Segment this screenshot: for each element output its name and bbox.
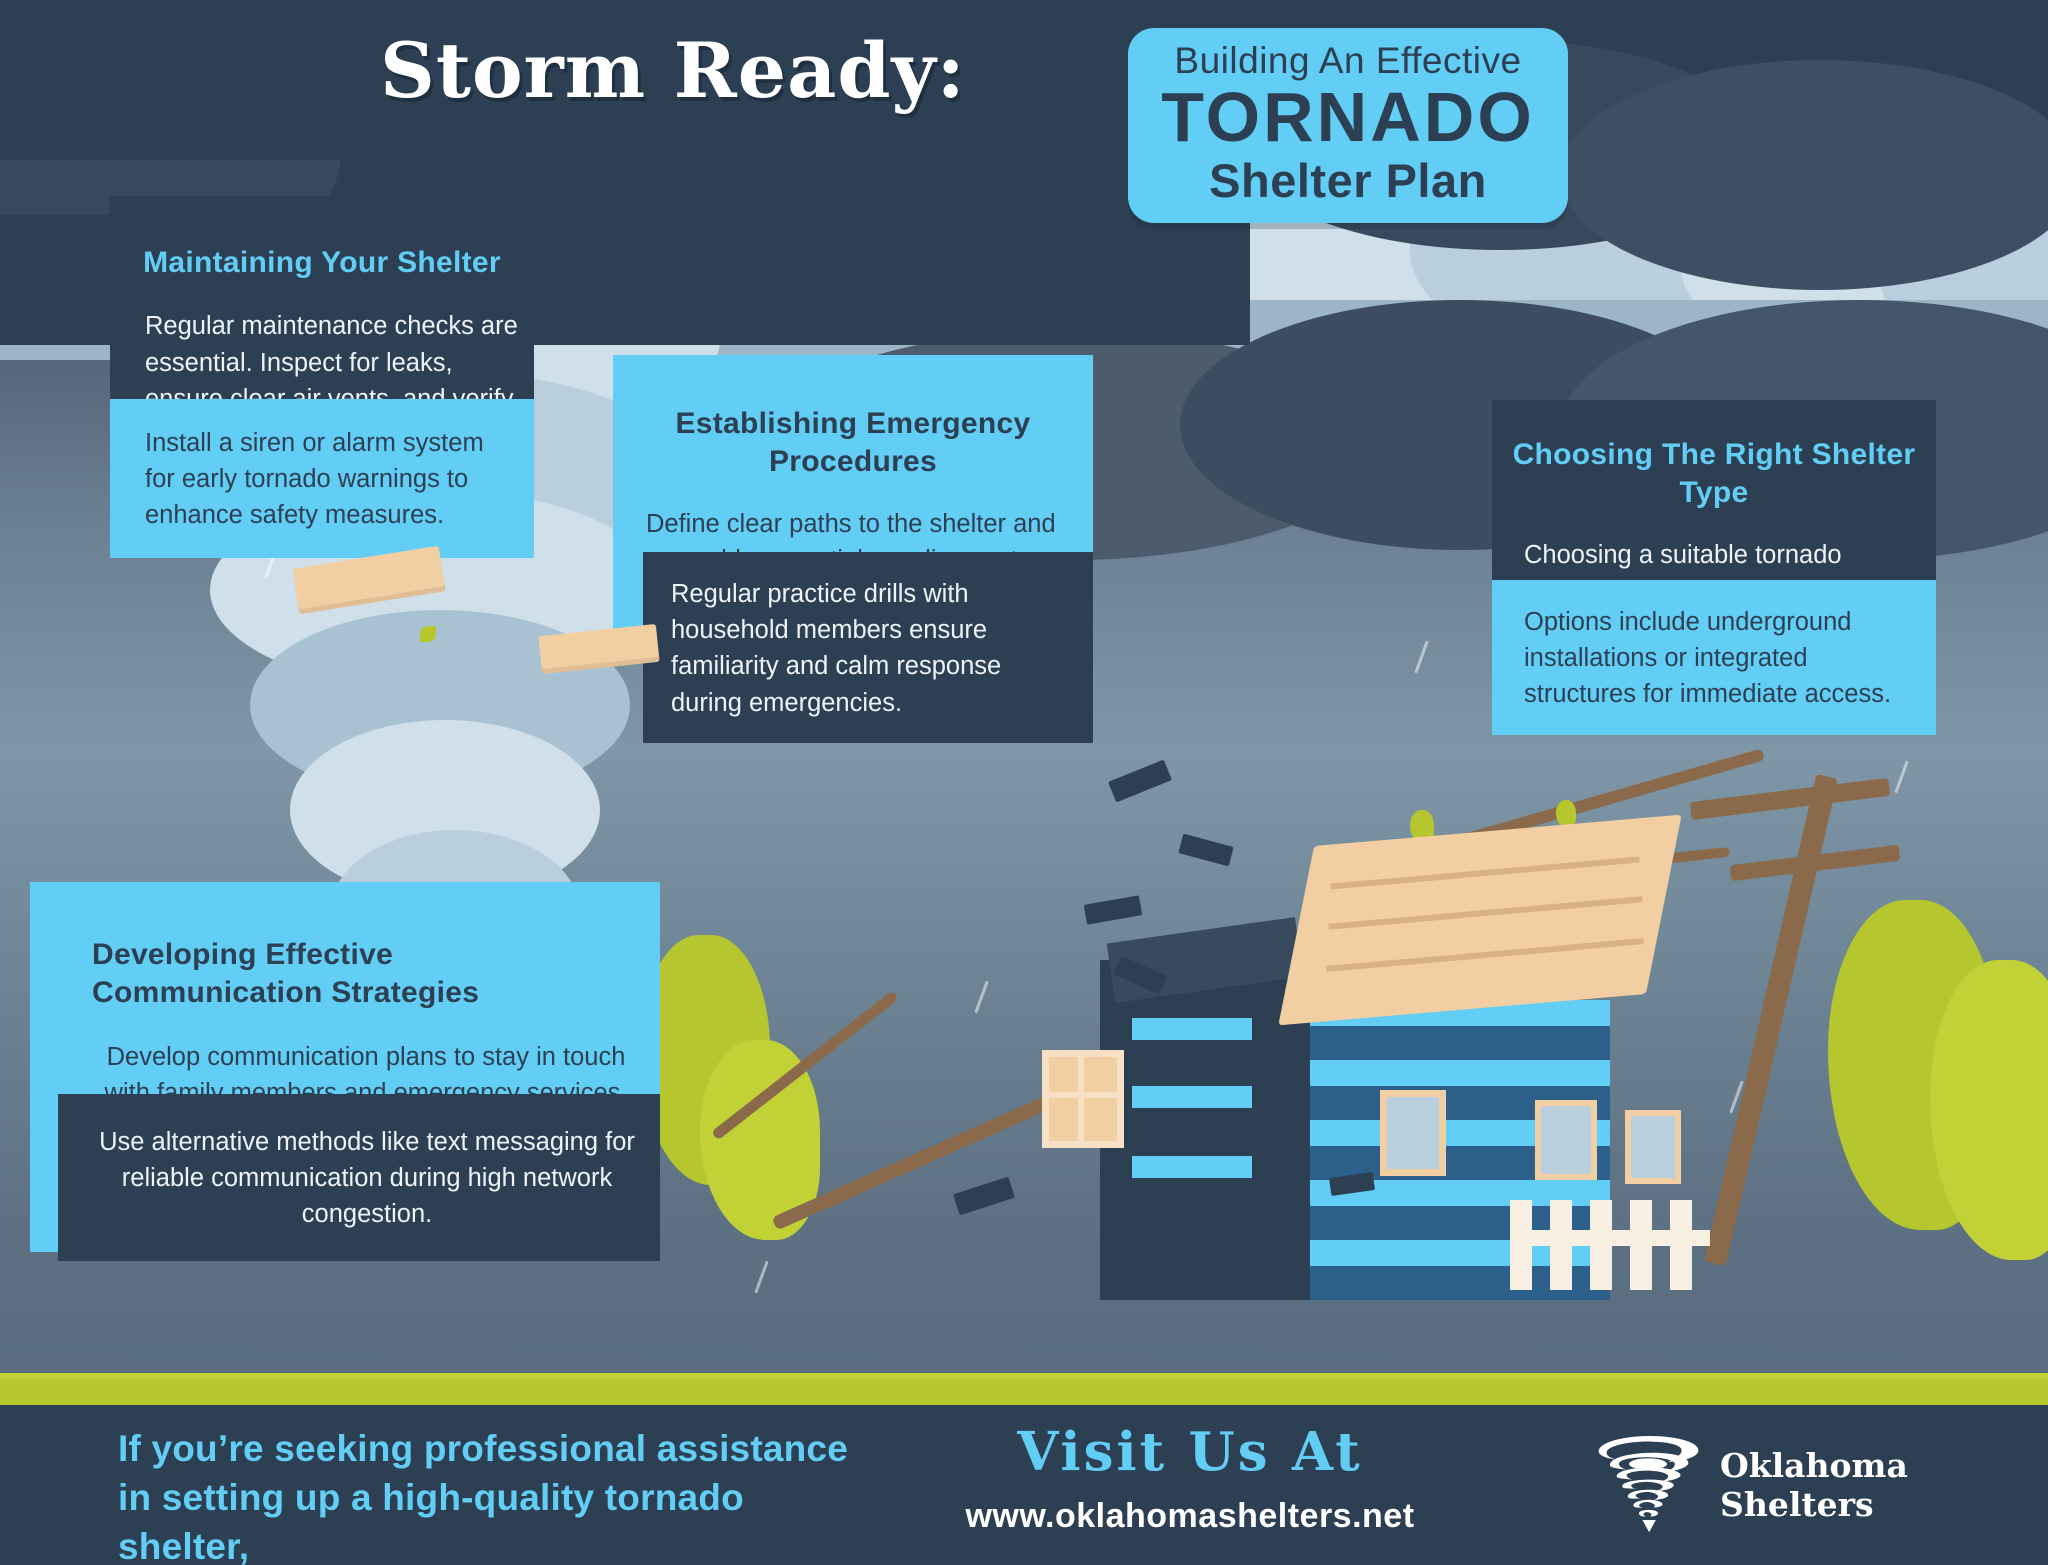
title-badge: Building An Effective TORNADO Shelter Pl…	[1128, 28, 1568, 223]
card-highlight-note: Use alternative methods like text messag…	[58, 1094, 660, 1261]
debris	[953, 1177, 1015, 1216]
card-heading: Maintaining Your Shelter	[110, 196, 534, 282]
badge-line-2: TORNADO	[1128, 82, 1568, 153]
rain-streak	[754, 1261, 768, 1294]
card-choosing-the-right-shelter-type: Choosing The Right Shelter Type Choosing…	[1492, 400, 1936, 680]
footer-bar: If you’re seeking professional assistanc…	[0, 1405, 2048, 1565]
rain-streak	[974, 981, 988, 1014]
utility-pole-crossbar	[1690, 778, 1891, 820]
brand-logo: Oklahoma Shelters	[1592, 1427, 1908, 1544]
page-title: Storm Ready:	[380, 26, 966, 115]
brand-name: Oklahoma Shelters	[1720, 1447, 1908, 1525]
card-heading: Developing Effective Communication Strat…	[30, 882, 660, 1013]
flying-leaf	[420, 626, 436, 642]
card-establishing-emergency-procedures: Establishing Emergency Procedures Define…	[613, 355, 1093, 655]
card-heading: Establishing Emergency Procedures	[613, 355, 1093, 482]
tornado-icon	[1592, 1427, 1704, 1544]
visit-us-label: Visit Us At	[955, 1421, 1425, 1483]
brand-line-1: Oklahoma	[1720, 1446, 1908, 1485]
rain-streak	[1894, 761, 1908, 794]
card-highlight-note: Regular practice drills with household m…	[643, 552, 1093, 743]
card-developing-effective-communication-strategies: Developing Effective Communication Strat…	[30, 882, 660, 1252]
card-highlight-note: Install a siren or alarm system for earl…	[110, 399, 534, 558]
card-maintaining-your-shelter: Maintaining Your Shelter Regular mainten…	[110, 196, 534, 508]
debris	[1108, 760, 1172, 803]
infographic-canvas: Storm Ready: Building An Effective TORNA…	[0, 0, 2048, 1565]
debris	[1178, 834, 1233, 867]
brand-line-2: Shelters	[1720, 1485, 1874, 1524]
card-heading: Choosing The Right Shelter Type	[1492, 400, 1936, 513]
rain-streak	[1414, 641, 1428, 674]
badge-line-1: Building An Effective	[1128, 40, 1568, 82]
card-highlight-note: Options include underground installation…	[1492, 580, 1936, 735]
badge-line-3: Shelter Plan	[1128, 153, 1568, 208]
website-url[interactable]: www.oklahomashelters.net	[925, 1497, 1455, 1536]
destroyed-house	[1080, 900, 1780, 1340]
footer-cta-text: If you’re seeking professional assistanc…	[118, 1425, 878, 1565]
